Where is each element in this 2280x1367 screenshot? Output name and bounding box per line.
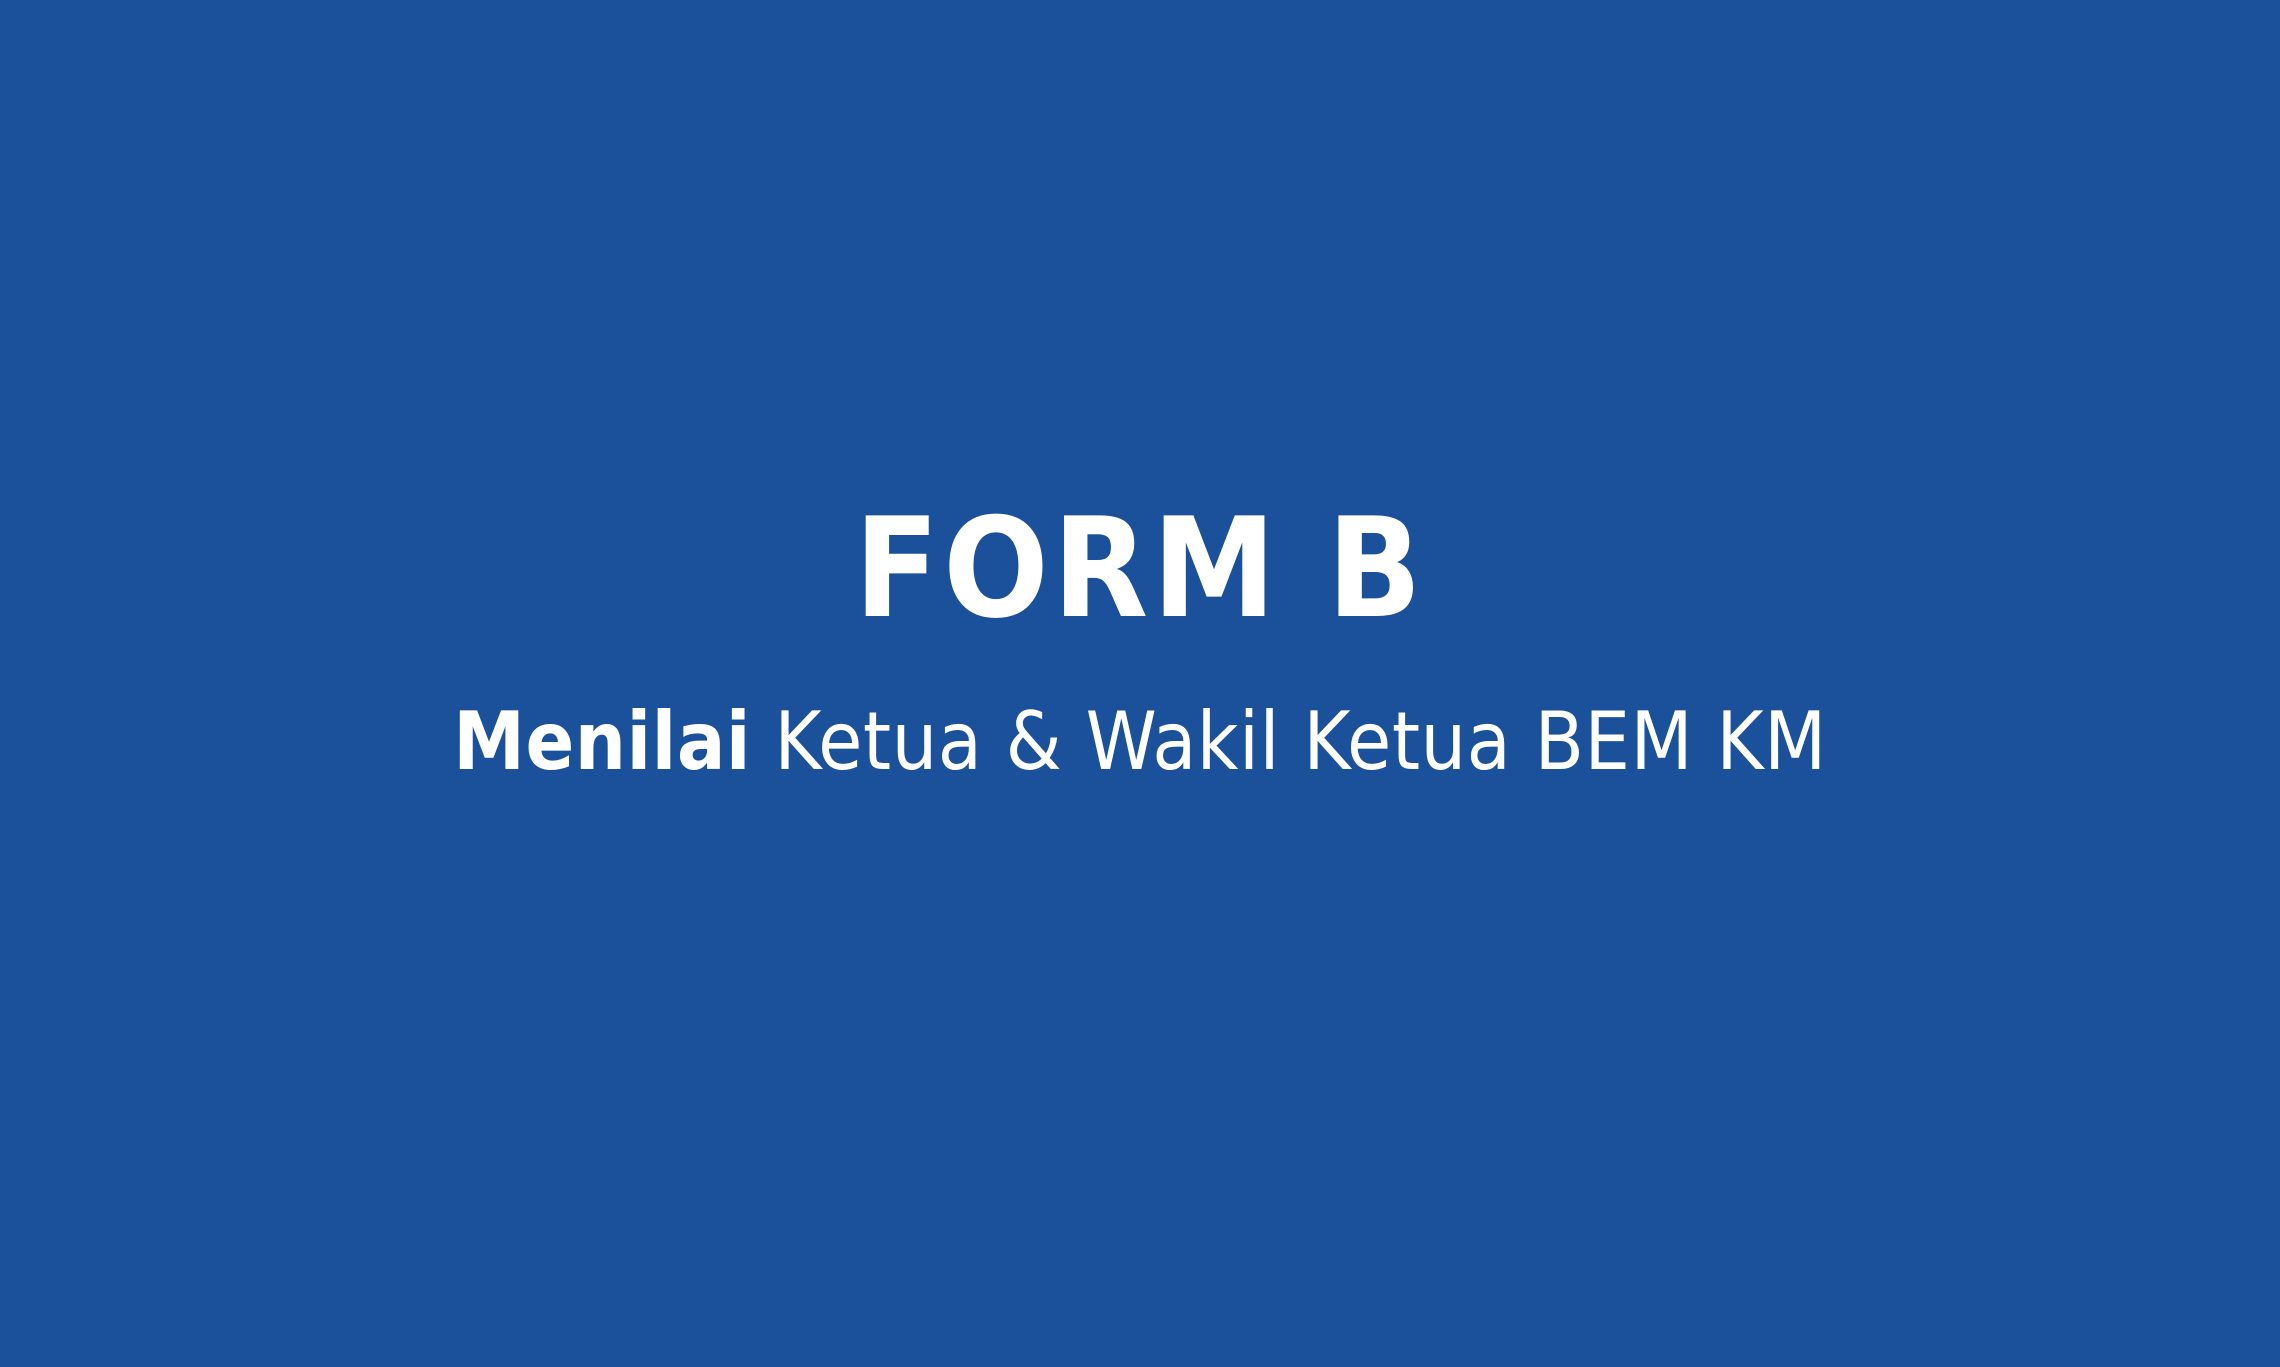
slide-canvas: FORM B Menilai Ketua & Wakil Ketua BEM K… xyxy=(0,0,2280,1367)
page-subtitle-emphasis: Menilai xyxy=(453,695,751,788)
page-title: FORM B xyxy=(854,500,1425,638)
title-block: FORM B Menilai Ketua & Wakil Ketua BEM K… xyxy=(0,500,2280,784)
page-subtitle-rest: Ketua & Wakil Ketua BEM KM xyxy=(751,695,1827,788)
page-subtitle: Menilai Ketua & Wakil Ketua BEM KM xyxy=(453,700,1826,784)
